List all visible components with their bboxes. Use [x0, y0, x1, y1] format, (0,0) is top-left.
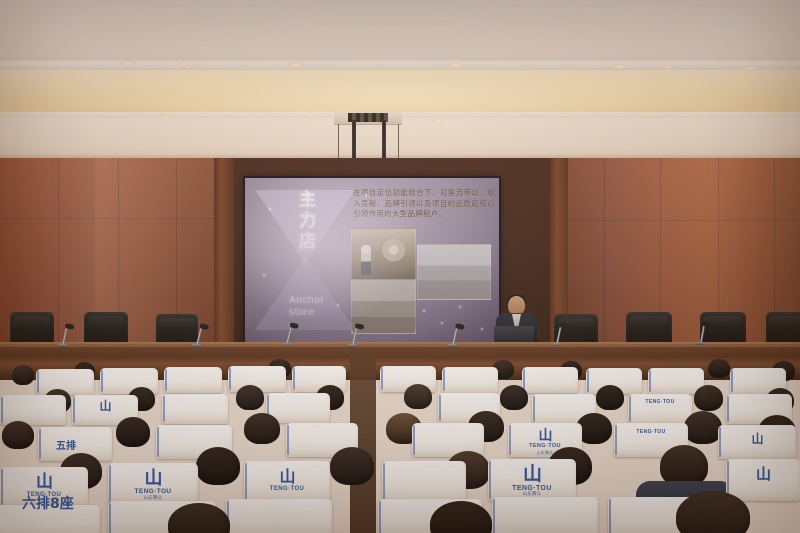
conference-hall-photo: 主力店 Anchor store 在项目定位功能组合下，对客流带动、收入贡献、品… — [0, 0, 800, 533]
chair-piping — [615, 425, 617, 455]
audience-head — [404, 384, 432, 409]
downlight-icon — [560, 120, 571, 124]
downlight-icon — [662, 65, 673, 69]
chair-piping — [649, 370, 651, 392]
sponsor-logo-mark: 山 — [134, 470, 171, 488]
sponsor-logo-mark: 山 — [529, 429, 561, 443]
chair-piping — [1, 469, 3, 505]
seat-chair[interactable]: 山 — [718, 425, 796, 459]
downlight-icon — [300, 118, 311, 122]
sponsor-logo-english: TENG·TOU — [645, 400, 674, 405]
wall-pilaster-left — [214, 158, 234, 373]
chair-piping — [39, 429, 41, 459]
chair-piping — [165, 369, 167, 391]
slide-photo-storefront — [351, 228, 416, 280]
microphone-base — [448, 344, 457, 347]
sponsor-logo-english: TENG·TOU — [529, 444, 561, 450]
chair-piping — [493, 499, 495, 533]
laptop-screen — [494, 326, 534, 343]
downlight-icon — [612, 64, 628, 69]
audience-head — [596, 385, 624, 410]
seat-chair[interactable] — [522, 367, 578, 393]
chair-piping — [719, 427, 721, 457]
microphone-base — [552, 343, 561, 346]
audience-head — [236, 385, 264, 410]
downlight-icon — [690, 121, 701, 125]
chair-piping — [727, 396, 729, 422]
chair-piping — [101, 370, 103, 392]
chair-piping — [1, 397, 3, 423]
downlight-icon — [432, 119, 443, 123]
seat-chair[interactable]: 山 TENG·TOU — [244, 461, 330, 503]
microphone-base — [696, 342, 705, 345]
sponsor-logo: 山 TENG·TOU — [270, 469, 304, 492]
cove-lighting-glow — [0, 70, 800, 118]
chair-piping — [609, 499, 611, 533]
seat-chair[interactable] — [164, 367, 222, 393]
audience-seating-area: 山 TENG·TOU — [0, 355, 800, 533]
slide-body-text: 在项目定位功能组合下，对客流带动、收入贡献、品牌引领以及项目的品质起核心引领作用… — [353, 188, 495, 220]
chair-piping — [109, 465, 111, 503]
seat-row-tag: 五排 — [56, 437, 76, 452]
downlight-icon — [178, 62, 189, 66]
sponsor-logo: TENG·TOU — [645, 400, 674, 405]
sparkle-icon — [263, 274, 265, 276]
chair-piping — [439, 395, 441, 421]
microphone-base — [282, 343, 291, 346]
chair-piping — [509, 425, 511, 455]
audience-head — [2, 421, 34, 449]
audience-head — [330, 447, 374, 485]
chair-piping — [587, 370, 589, 392]
chair-piping — [229, 368, 231, 390]
sparkle-icon — [441, 322, 443, 324]
sponsor-logo-mark: 山 — [270, 469, 304, 485]
chair-piping — [383, 463, 385, 501]
audience-head — [196, 447, 240, 485]
seat-chair[interactable] — [492, 497, 598, 533]
sparkle-icon — [269, 208, 271, 210]
ceiling-upper-plane — [0, 0, 800, 62]
downlight-icon — [288, 62, 304, 67]
downlight-icon — [578, 64, 589, 68]
audience-head — [244, 413, 280, 444]
chair-piping — [109, 503, 111, 533]
sparkle-icon — [311, 234, 313, 236]
seat-chair[interactable]: 山 — [726, 459, 800, 501]
seat-row-seat-tag: 六排8座 — [22, 493, 74, 513]
audience-head — [500, 385, 528, 410]
sponsor-logo-mark: 山 — [512, 465, 552, 484]
sponsor-logo: 山 — [751, 433, 762, 445]
downlight-icon — [742, 66, 758, 71]
audience-head — [708, 359, 730, 378]
microphone-base — [192, 344, 201, 347]
audience-head — [12, 365, 34, 385]
sparkle-icon — [423, 310, 425, 312]
chair-piping — [379, 501, 381, 533]
sponsor-logo: TENG·TOU — [636, 430, 665, 435]
chair-piping — [245, 463, 247, 501]
seat-chair[interactable]: 山 TENG·TOU 山东腾头 — [108, 463, 198, 505]
sparkle-icon — [481, 328, 483, 330]
sponsor-logo: 山 — [99, 400, 110, 412]
microphone-base — [58, 344, 67, 347]
downlight-icon — [160, 116, 171, 120]
chair-piping — [73, 397, 75, 423]
sponsor-logo: 山 TENG·TOU 山东腾头 — [512, 465, 552, 498]
audience-head — [684, 411, 722, 444]
sponsor-logo-english: TENG·TOU — [270, 486, 304, 492]
chair-piping — [37, 371, 39, 393]
sponsor-logo: 山 — [756, 467, 770, 482]
seat-chair[interactable] — [382, 461, 466, 503]
sparkle-icon — [337, 304, 339, 306]
downlight-icon — [448, 63, 464, 68]
sparkle-icon — [459, 306, 461, 308]
seat-chair[interactable] — [162, 394, 228, 424]
chair-piping — [293, 368, 295, 390]
seat-chair[interactable]: TENG·TOU — [628, 394, 692, 424]
chair-piping — [381, 368, 383, 390]
chair-piping — [533, 396, 535, 422]
chair-piping — [489, 461, 491, 499]
sponsor-logo-mark: 山 — [756, 467, 770, 482]
audience-head — [116, 417, 150, 447]
microphone-base — [348, 344, 357, 347]
chair-piping — [157, 427, 159, 457]
projection-screen[interactable]: 主力店 Anchor store 在项目定位功能组合下，对客流带动、收入贡献、品… — [245, 178, 499, 342]
audience-head — [694, 385, 723, 411]
downlight-icon — [120, 61, 136, 66]
slide-photo-atrium — [417, 244, 491, 300]
slide-headline-vertical: 主力店 — [293, 190, 318, 253]
chair-piping — [163, 396, 165, 422]
sponsor-logo: 山 TENG·TOU 山东腾头 — [134, 470, 171, 501]
chair-piping — [413, 425, 415, 455]
chair-piping — [731, 370, 733, 392]
seat-chair[interactable]: 山 TENG·TOU 山东腾头 — [488, 459, 576, 501]
sponsor-logo-mark: 山 — [27, 474, 61, 491]
chair-piping — [629, 396, 631, 422]
chair-piping — [287, 425, 289, 455]
head-table-highlight — [0, 344, 800, 347]
seat-chair[interactable] — [0, 395, 66, 425]
chair-piping — [443, 369, 445, 391]
sponsor-logo-mark: 山 — [99, 400, 110, 412]
sponsor-logo-english: TENG·TOU — [134, 489, 171, 496]
sponsor-logo-mark: 山 — [751, 433, 762, 445]
sponsor-logo-english: TENG·TOU — [512, 485, 552, 492]
seat-chair[interactable] — [442, 367, 498, 393]
sparkle-icon — [365, 194, 367, 196]
seat-chair[interactable] — [226, 499, 332, 533]
sponsor-logo-english: TENG·TOU — [636, 430, 665, 435]
